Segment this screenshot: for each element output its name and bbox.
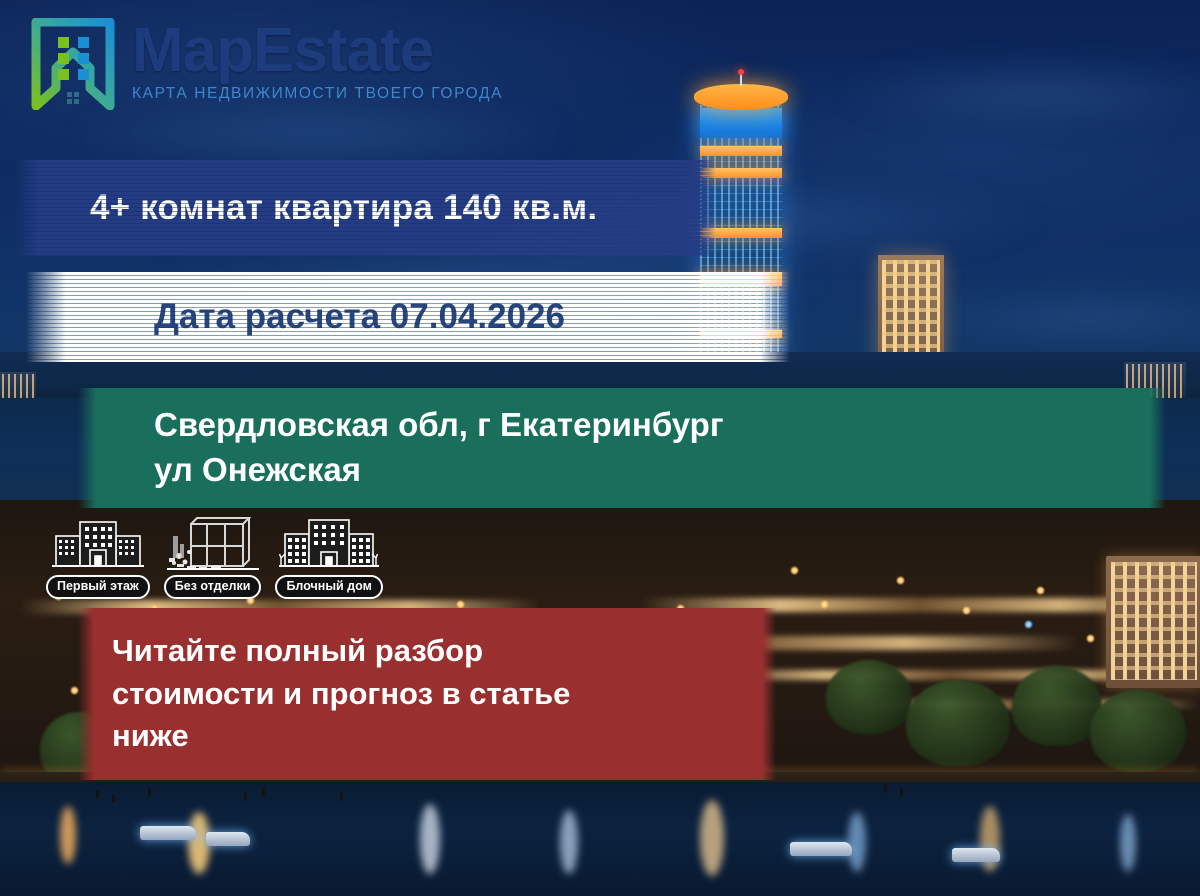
- badge-label: Блочный дом: [275, 575, 382, 599]
- brand-logo[interactable]: MapEstate КАРТА НЕДВИЖИМОСТИ ТВОЕГО ГОРО…: [30, 18, 503, 110]
- antenna-icon: [740, 74, 742, 86]
- calculation-date-banner: Дата расчета 07.04.2026: [26, 272, 790, 362]
- boat-icon: [790, 842, 852, 856]
- badge-no-finishing: Без отделки: [164, 516, 262, 599]
- boat-icon: [206, 832, 250, 846]
- brand-name: MapEstate: [132, 22, 503, 81]
- address-banner: Свердловская обл, г Екатеринбург ул Онеж…: [78, 388, 1166, 508]
- property-banner: 4+ комнат квартира 140 кв.м.: [14, 160, 716, 256]
- feature-badges: Первый этаж: [46, 516, 383, 599]
- cta-line-2: стоимости и прогноз в статье: [112, 673, 570, 716]
- boat-icon: [952, 848, 1000, 862]
- address-line-2: ул Онежская: [154, 448, 724, 493]
- badge-first-floor: Первый этаж: [46, 516, 150, 599]
- apartment-building-photo: [1106, 556, 1200, 688]
- badge-block-house: Блочный дом: [275, 516, 382, 599]
- cta-line-1: Читайте полный разбор: [112, 630, 570, 673]
- promo-card: MapEstate КАРТА НЕДВИЖИМОСТИ ТВОЕГО ГОРО…: [0, 0, 1200, 896]
- badge-label: Первый этаж: [46, 575, 150, 599]
- boat-icon: [140, 826, 196, 840]
- property-text: 4+ комнат квартира 140 кв.м.: [14, 188, 597, 228]
- cta-banner[interactable]: Читайте полный разбор стоимости и прогно…: [78, 608, 776, 780]
- apartment-block-icon: [279, 516, 379, 572]
- unfinished-room-icon: [167, 516, 259, 572]
- cta-line-3: ниже: [112, 715, 570, 758]
- office-building-icon: [52, 516, 144, 572]
- address-line-1: Свердловская обл, г Екатеринбург: [154, 403, 724, 448]
- badge-label: Без отделки: [164, 575, 262, 599]
- skyscraper-blue-band: [700, 108, 782, 138]
- bookmark-building-icon: [30, 18, 116, 110]
- calculation-date-text: Дата расчета 07.04.2026: [26, 297, 565, 337]
- skyscraper-crown: [694, 84, 788, 110]
- brand-tagline: КАРТА НЕДВИЖИМОСТИ ТВОЕГО ГОРОДА: [132, 85, 503, 103]
